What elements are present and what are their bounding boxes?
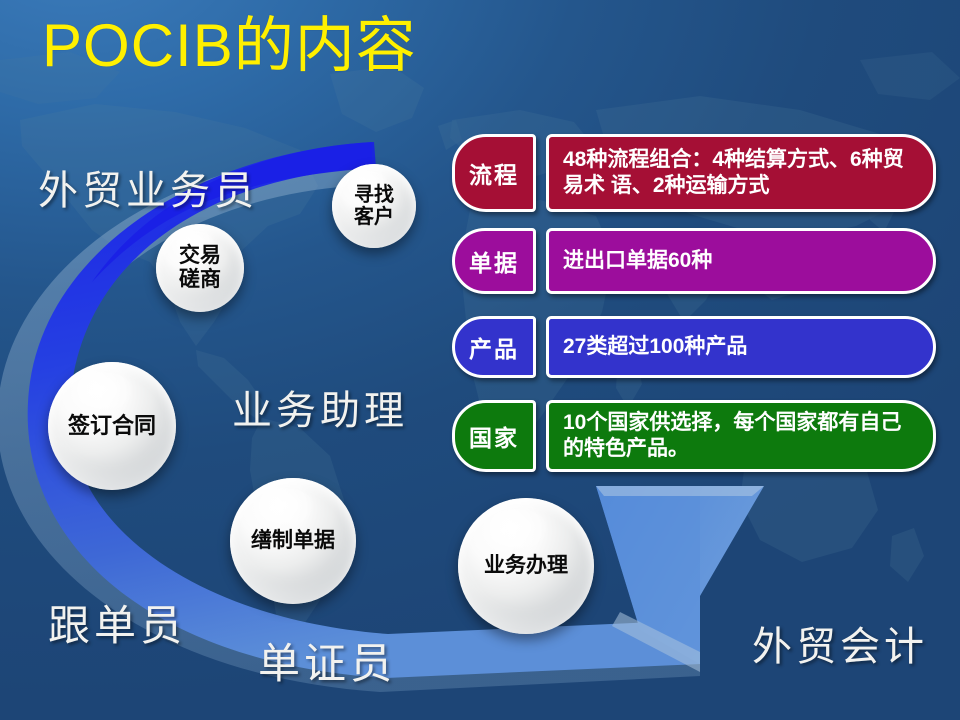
slide-canvas: POCIB的内容 外贸业务员 业务助理 跟单员 单证员 外贸会计 寻找客户 交易… — [0, 0, 960, 720]
info-row-chanpin-text: 27类超过100种产品 — [546, 316, 936, 378]
step-xunzhao-kehu-label: 寻找客户 — [354, 184, 394, 229]
step-xunzhao-kehu[interactable]: 寻找客户 — [332, 164, 416, 248]
info-row-danju-tag: 单据 — [452, 228, 536, 294]
step-shanzhi-danju-label: 缮制单据 — [251, 529, 335, 553]
info-row-guojia-tag: 国家 — [452, 400, 536, 472]
info-row-danju[interactable]: 单据 进出口单据60种 — [452, 228, 936, 294]
role-waimao-yewuyuan: 外贸业务员 — [38, 158, 258, 216]
step-yewu-banli-label: 业务办理 — [484, 554, 568, 578]
info-row-chanpin[interactable]: 产品 27类超过100种产品 — [452, 316, 936, 378]
info-row-liucheng-text: 48种流程组合：4种结算方式、6种贸易术 语、2种运输方式 — [546, 134, 936, 212]
step-qianding-hetong[interactable]: 签订合同 — [48, 362, 176, 490]
info-row-guojia[interactable]: 国家 10个国家供选择，每个国家都有自己的特色产品。 — [452, 400, 936, 472]
role-danzheng-yuan: 单证员 — [258, 630, 396, 691]
info-row-liucheng[interactable]: 流程 48种流程组合：4种结算方式、6种贸易术 语、2种运输方式 — [452, 134, 936, 212]
info-row-danju-text: 进出口单据60种 — [546, 228, 936, 294]
info-row-guojia-text: 10个国家供选择，每个国家都有自己的特色产品。 — [546, 400, 936, 472]
step-qianding-hetong-label: 签订合同 — [68, 414, 156, 439]
role-yewu-zhuli: 业务助理 — [232, 378, 408, 436]
step-shanzhi-danju[interactable]: 缮制单据 — [230, 478, 356, 604]
role-waimao-kuaiji: 外贸会计 — [752, 614, 928, 672]
info-row-chanpin-tag: 产品 — [452, 316, 536, 378]
step-jiaoyi-cuoshang[interactable]: 交易磋商 — [156, 224, 244, 312]
step-jiaoyi-cuoshang-label: 交易磋商 — [179, 244, 221, 291]
step-yewu-banli[interactable]: 业务办理 — [458, 498, 594, 634]
info-row-liucheng-tag: 流程 — [452, 134, 536, 212]
page-title: POCIB的内容 — [42, 14, 417, 77]
role-gendan-yuan: 跟单员 — [48, 592, 186, 653]
